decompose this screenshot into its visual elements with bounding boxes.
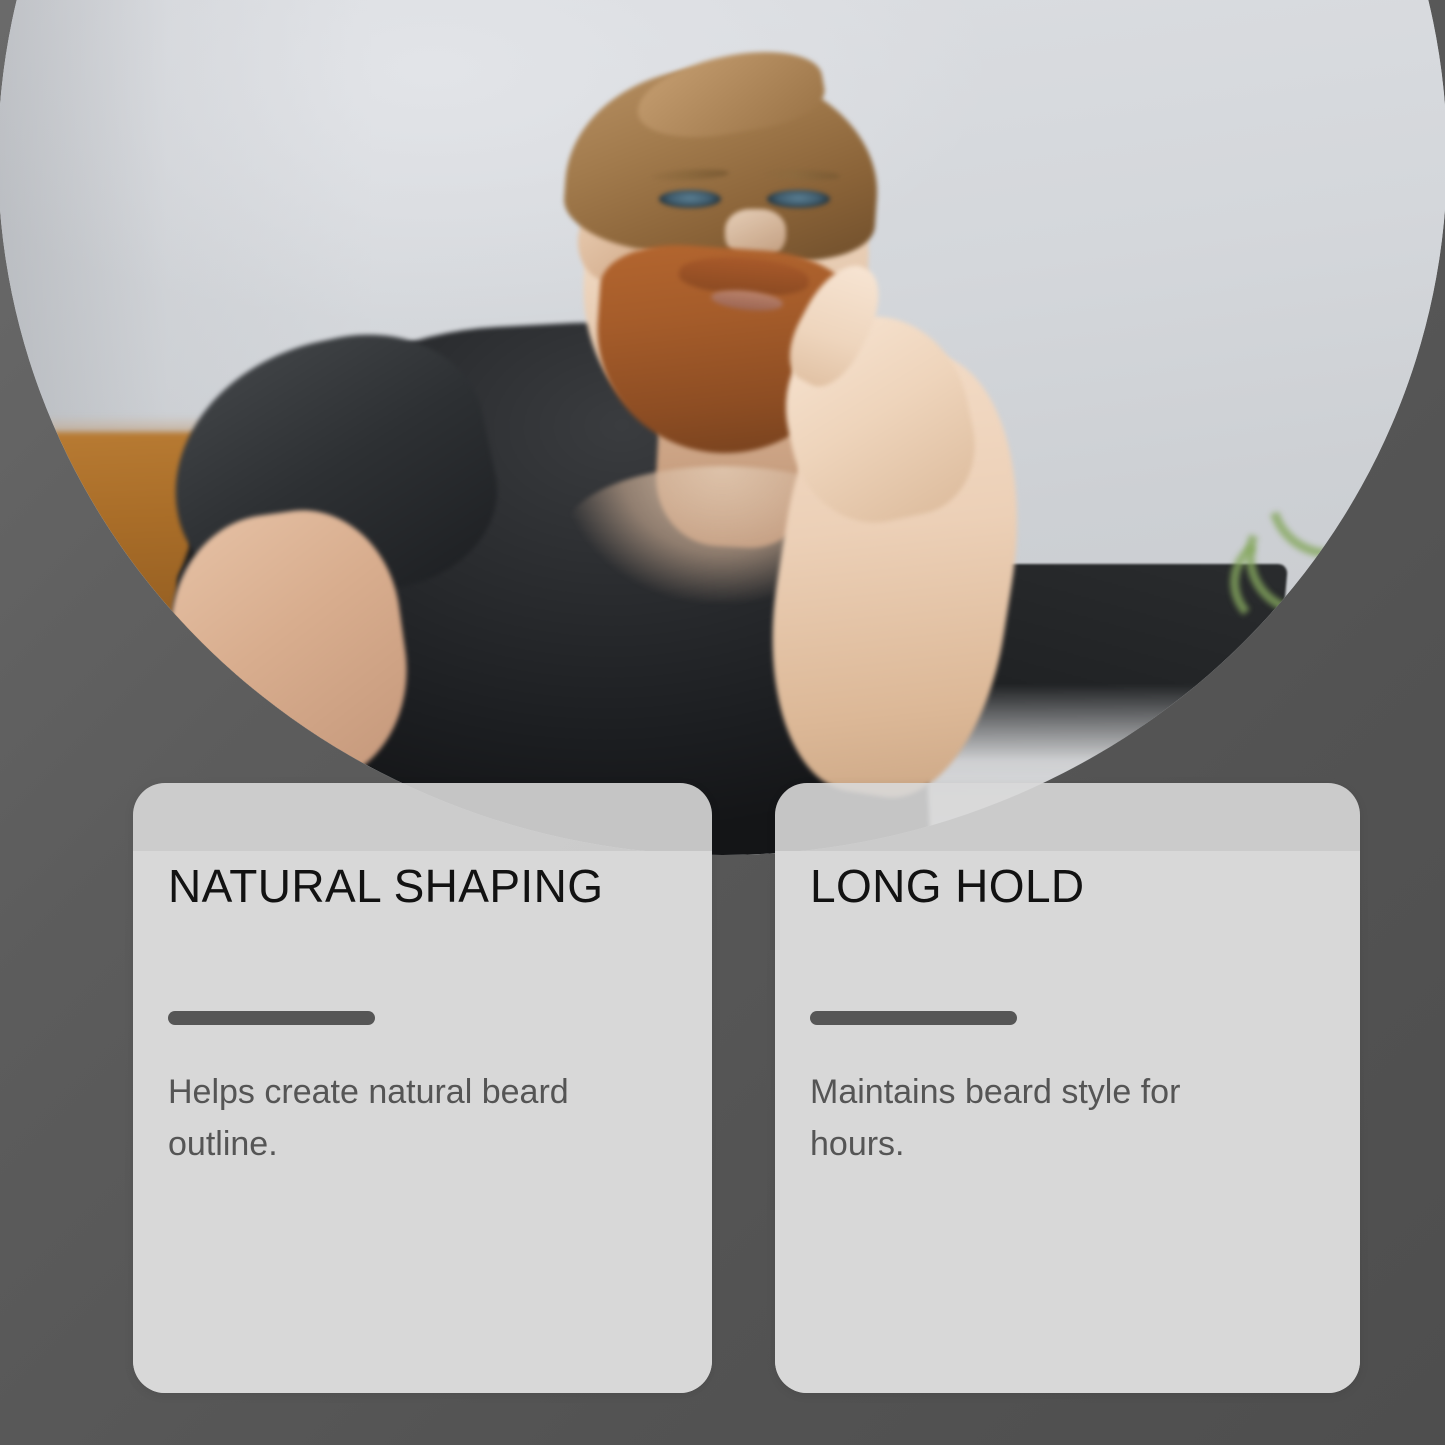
- hero-photo: [0, 0, 1445, 855]
- feature-card-title: LONG HOLD: [810, 861, 1324, 912]
- feature-card-description: Maintains beard style for hours.: [810, 1066, 1280, 1170]
- feature-card-title: NATURAL SHAPING: [168, 861, 676, 912]
- poster-canvas: NATURAL SHAPING Helps create natural bea…: [0, 0, 1445, 1445]
- feature-card-description: Helps create natural beard outline.: [168, 1066, 638, 1170]
- feature-card-content: NATURAL SHAPING Helps create natural bea…: [133, 783, 712, 1170]
- feature-card-natural-shaping[interactable]: NATURAL SHAPING Helps create natural bea…: [133, 783, 712, 1393]
- feature-card-divider: [168, 1011, 375, 1025]
- person-eye: [767, 190, 829, 208]
- hero-circle-mask: [0, 0, 1445, 855]
- feature-card-divider: [810, 1011, 1017, 1025]
- feature-card-long-hold[interactable]: LONG HOLD Maintains beard style for hour…: [775, 783, 1360, 1393]
- feature-card-content: LONG HOLD Maintains beard style for hour…: [775, 783, 1360, 1170]
- photo-person: [0, 0, 1445, 855]
- person-eye: [659, 190, 721, 208]
